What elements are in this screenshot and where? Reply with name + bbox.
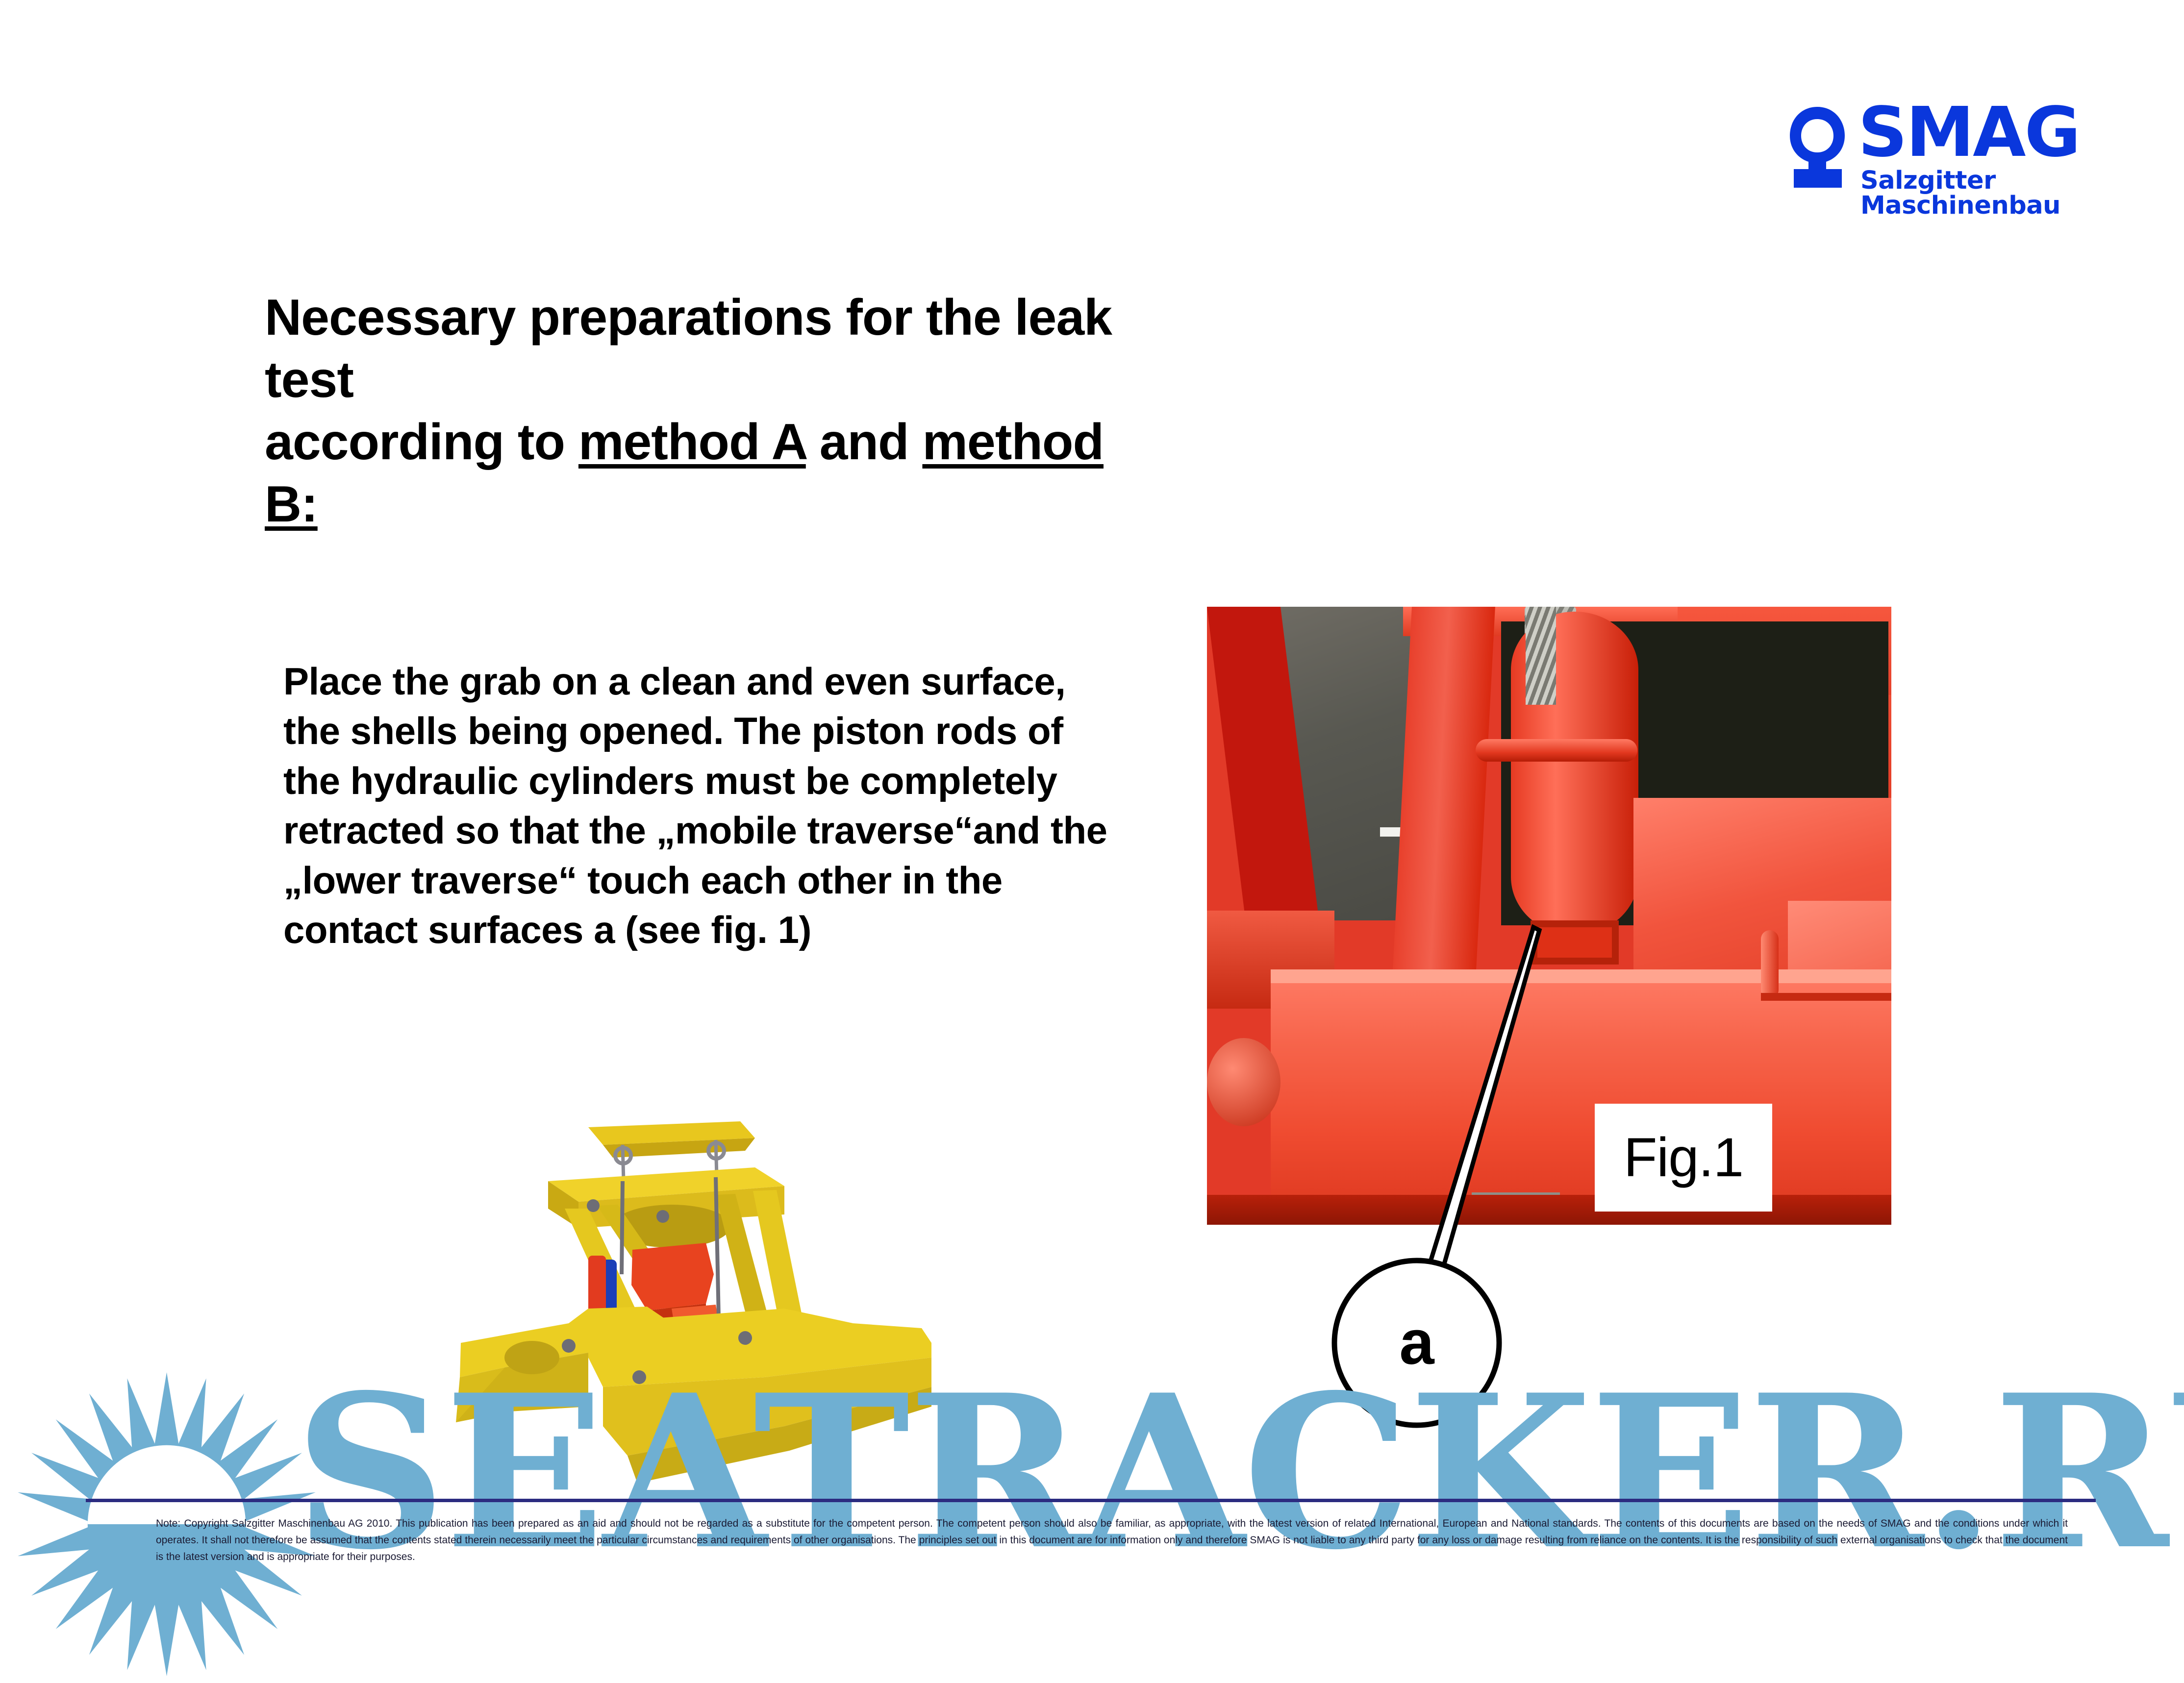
page-title: Necessary preparations for the leak test… xyxy=(265,287,1481,536)
smag-wordmark: SMAG xyxy=(1858,99,2079,167)
smag-subtitle: Salzgitter Maschinenbau xyxy=(1860,168,2101,218)
grab-pivot-bolt-1-icon xyxy=(562,1339,576,1353)
photo-hinge-pin xyxy=(1207,1038,1280,1126)
smag-mark-icon xyxy=(1787,105,1848,191)
title-line-3-mid: and xyxy=(806,414,923,470)
grab-pivot-bolt-2-icon xyxy=(632,1370,646,1384)
grab-pivot-bolt-4-icon xyxy=(587,1199,600,1212)
photo-wire-rope-top xyxy=(1526,607,1556,705)
grab-pivot-bolt-5-icon xyxy=(656,1210,669,1223)
photo-handle xyxy=(1761,930,1779,999)
title-line-1: Necessary preparations for the leak xyxy=(265,289,1112,346)
footer-copyright-note: Note: Copyright Salzgitter Maschinenbau … xyxy=(156,1515,2068,1565)
photo-rod xyxy=(1761,993,1891,1001)
title-method-b: method xyxy=(922,414,1104,470)
slide-canvas: SMAG Salzgitter Maschinenbau Necessary p… xyxy=(0,0,2184,1683)
photo-drum-axle xyxy=(1476,739,1637,762)
title-method-a: method A xyxy=(578,414,806,470)
title-method-b-suffix: B: xyxy=(265,476,318,533)
callout-leader xyxy=(1284,921,1652,1441)
footer-divider xyxy=(86,1499,2096,1502)
grab-pivot-bolt-3-icon xyxy=(738,1331,752,1345)
grab-illustration xyxy=(441,1113,941,1505)
smag-logo: SMAG Salzgitter Maschinenbau xyxy=(1787,105,2101,198)
callout-leader-line xyxy=(1418,927,1539,1309)
grab-shell-left-hole xyxy=(504,1341,559,1374)
instruction-paragraph: Place the grab on a clean and even surfa… xyxy=(283,657,1117,955)
title-line-2: test xyxy=(265,351,353,408)
grab-mobile-traverse xyxy=(631,1243,714,1311)
callout-circle xyxy=(1334,1261,1499,1425)
title-line-3-prefix: according to xyxy=(265,414,578,470)
